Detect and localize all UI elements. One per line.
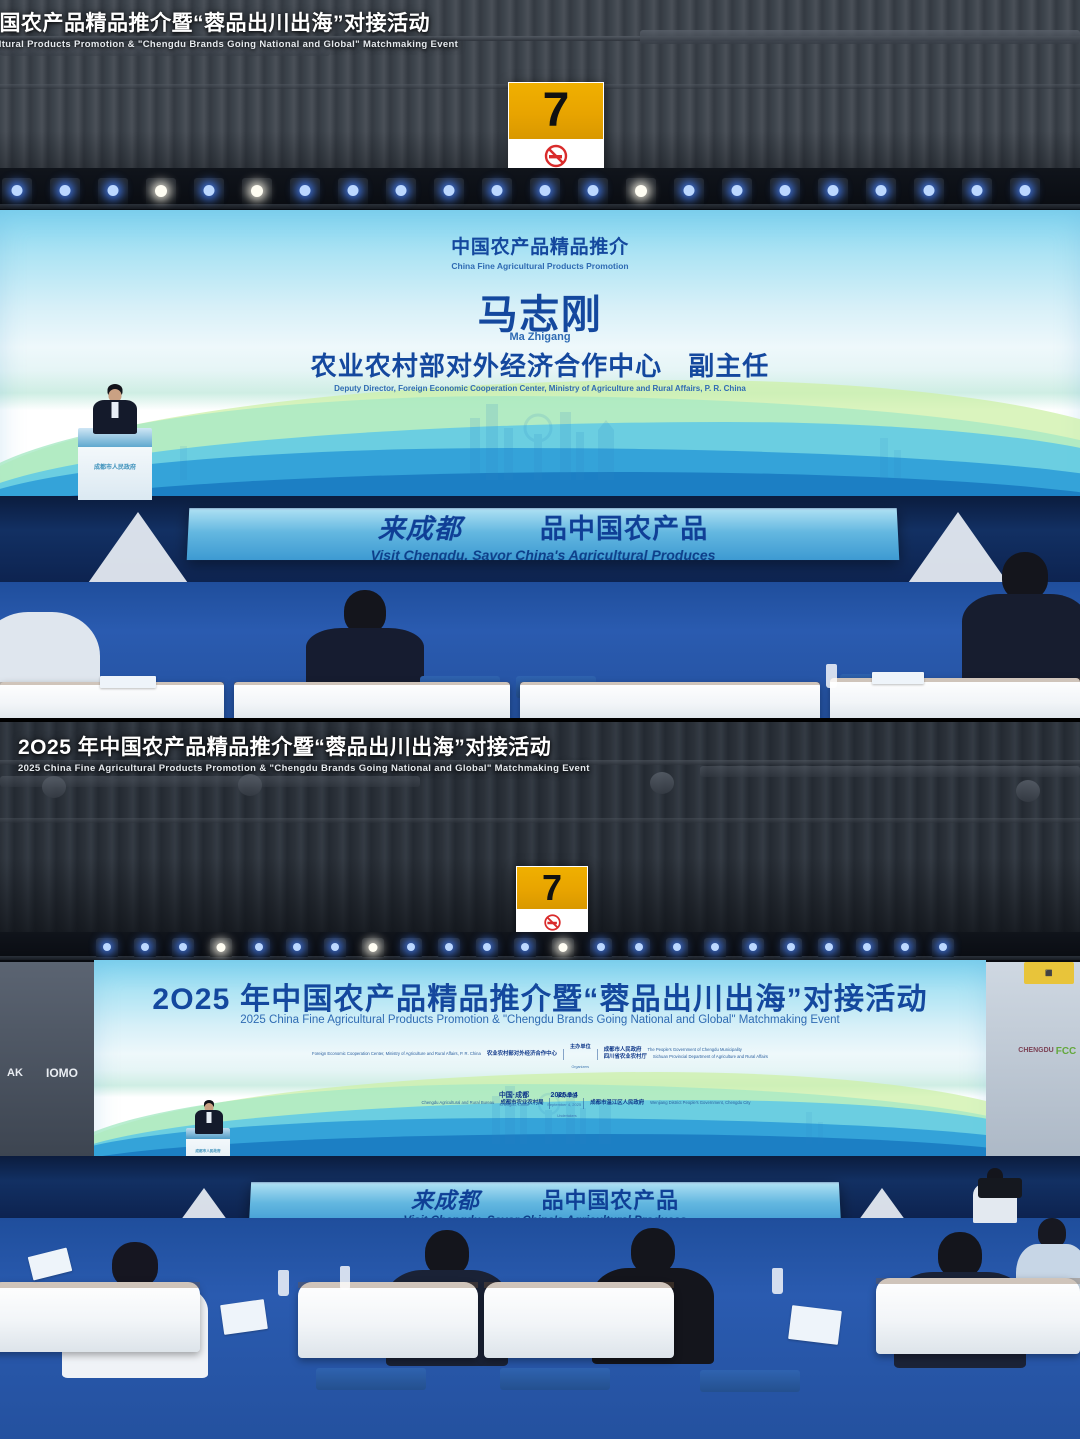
organizer-role: 主办单位 Organizers [570, 1034, 591, 1074]
sponsor-logo-right-1: CHENGDU [1016, 1044, 1056, 1056]
sponsor-logo-right-2: FCC [1052, 1044, 1080, 1058]
water-bottle [278, 1270, 289, 1296]
speaker-shirt [112, 402, 119, 418]
stage-light [962, 178, 992, 204]
attendee-head [1002, 552, 1048, 600]
video-camera [978, 1178, 1022, 1198]
stage-light [722, 178, 752, 204]
dateline-place-zh: 中国·成都 [499, 1092, 529, 1099]
speaker-shirt [207, 1112, 212, 1123]
stage-light [894, 938, 916, 957]
stage-light [628, 938, 650, 957]
truss-bar [0, 204, 1080, 209]
banner-zh-left: 来成都 [411, 1183, 480, 1215]
podium-top: 成都市人民政府 [78, 428, 152, 500]
stage-light [932, 938, 954, 957]
lighting-truss-top [0, 168, 1080, 212]
stage-light [1010, 178, 1040, 204]
stage-light [400, 938, 422, 957]
podium-body: 成都市人民政府 [78, 447, 152, 500]
led-speaker-title-en: Deputy Director, Foreign Economic Cooper… [0, 378, 1080, 396]
stage-light [386, 178, 416, 204]
stage-light [96, 938, 118, 957]
stage-light [324, 938, 346, 957]
stage-light [248, 938, 270, 957]
stage-light [242, 178, 272, 204]
stage-light [530, 178, 560, 204]
stage-light [476, 938, 498, 957]
banner-en: Visit Chengdu, Savor China's Agricultura… [370, 547, 715, 560]
led-speaker-name-en: Ma Zhigang [0, 327, 1080, 345]
led-organizer-block: Foreign Economic Cooperation Center, Min… [94, 1034, 986, 1123]
undertaker-role-en: Undertakers [557, 1114, 577, 1118]
audience-table [520, 682, 820, 722]
stage-light [742, 938, 764, 957]
dateline-date-zh: 2025.9.4 [551, 1092, 578, 1099]
led-screen-bottom: 2O25 年中国农产品精品推介暨“蓉品出川出海”对接活动 2025 China … [94, 960, 986, 1156]
hall-number-sign: 7 [508, 82, 604, 174]
speaker-at-podium-top [86, 384, 144, 432]
attendee-body [962, 594, 1080, 686]
audience-table [484, 1282, 674, 1358]
photo-panel-bottom: 7 AK [0, 722, 1080, 1439]
sponsor-logo-left-1: AK [0, 1066, 32, 1080]
exit-sign: ⬛ [1024, 962, 1074, 984]
banner-zh-right: 品中国农产品 [540, 508, 709, 546]
dateline-date-en: September 4, 2025 [547, 1102, 581, 1107]
dateline-date: 2025.9.4 September 4, 2025 [547, 1084, 581, 1107]
attendee [300, 590, 430, 690]
stage-light [438, 938, 460, 957]
ceiling-spotlight [238, 774, 262, 796]
hall-number-sign: 7 [516, 866, 588, 936]
side-wall-right [986, 962, 1080, 1172]
hall-number: 7 [517, 867, 587, 909]
organizer-name-en: Sichuan Provincial Department of Agricul… [653, 1054, 768, 1059]
chair [700, 1370, 800, 1392]
ceiling-spotlight [1016, 780, 1040, 802]
stage-light [434, 178, 464, 204]
divider [563, 1049, 564, 1060]
led-eyebrow-en: China Fine Agricultural Products Promoti… [0, 256, 1080, 274]
banner-zh-right: 品中国农产品 [542, 1183, 680, 1215]
stage-light [134, 938, 156, 957]
stage-light [818, 938, 840, 957]
stage-light [674, 178, 704, 204]
chair [500, 1368, 610, 1390]
side-wall-left [0, 962, 98, 1162]
stage-light [98, 178, 128, 204]
lighting-truss-bottom [0, 932, 1080, 962]
chair [316, 1368, 426, 1390]
ceiling-duct [700, 766, 1080, 777]
stage-light [818, 178, 848, 204]
handout-paper [220, 1299, 268, 1335]
organizer-role-en: Organizers [572, 1065, 590, 1069]
organizer-name-zh: 成都市人民政府 [604, 1047, 642, 1054]
stage-light [172, 938, 194, 957]
attendee [960, 552, 1080, 682]
led-screen-top: 中国农产品精品推介 China Fine Agricultural Produc… [0, 210, 1080, 496]
water-bottle [826, 664, 837, 688]
organizer-name-line: 四川省农业农村厅 Sichuan Provincial Department o… [604, 1054, 768, 1061]
stage-light [626, 178, 656, 204]
organizer-name-line: 成都市人民政府 The People's Government of Cheng… [604, 1047, 768, 1054]
audience-table [830, 678, 1080, 722]
stage-light [286, 938, 308, 957]
led-main-title-en: 2025 China Fine Agricultural Products Pr… [94, 1010, 986, 1028]
audience-table [0, 1282, 200, 1352]
ceiling-beam [0, 818, 1080, 823]
water-bottle [340, 1266, 350, 1290]
led-dateline: 中国·成都 Chengdu, China 2025.9.4 September … [94, 1084, 986, 1107]
audience-table [0, 682, 224, 722]
photo-panel-top: 7 [0, 0, 1080, 722]
organizer-names: 成都市人民政府 The People's Government of Cheng… [604, 1047, 768, 1061]
stage-light [780, 938, 802, 957]
handout-paper [872, 672, 924, 684]
audience-table [298, 1282, 478, 1358]
stage-light [770, 178, 800, 204]
stage-light [290, 178, 320, 204]
stage-light [194, 178, 224, 204]
divider [597, 1049, 598, 1060]
ceiling-spotlight [650, 772, 674, 794]
stage-light [2, 178, 32, 204]
stage-light [914, 178, 944, 204]
hall-number: 7 [509, 83, 603, 139]
organizer-left-zh: 农业农村部对外经济合作中心 [487, 1051, 557, 1058]
stage-light [552, 938, 574, 957]
stage-light [210, 938, 232, 957]
dateline-place: 中国·成都 Chengdu, China [499, 1084, 529, 1107]
dateline-place-en: Chengdu, China [499, 1102, 529, 1107]
stage-light [362, 938, 384, 957]
stage-light [146, 178, 176, 204]
stage-light [856, 938, 878, 957]
led-eyebrow-zh: 中国农产品精品推介 [0, 232, 1080, 259]
stage-light [514, 938, 536, 957]
organizer-name-en: The People's Government of Chengdu Munic… [647, 1047, 741, 1052]
stage-light [866, 178, 896, 204]
ceiling-duct [0, 46, 330, 56]
stage-light [704, 938, 726, 957]
stage-banner-top: 来成都 品中国农产品 Visit Chengdu, Savor China's … [187, 508, 900, 560]
audience-table [876, 1278, 1080, 1354]
audience-table [234, 682, 510, 722]
speaker-at-podium-bottom [192, 1100, 226, 1132]
organizer-left-en: Foreign Economic Cooperation Center, Min… [312, 1051, 481, 1056]
stage-light [50, 178, 80, 204]
podium-emblem: 成都市人民政府 [94, 465, 136, 471]
stage-decor-triangle [86, 512, 190, 586]
ceiling-spotlight [42, 776, 66, 798]
stage-light [338, 178, 368, 204]
stage-light [482, 178, 512, 204]
sponsor-logo-left-2: IOMO [36, 1066, 88, 1080]
organizer-name-zh: 四川省农业农村厅 [604, 1054, 647, 1061]
banner-zh-left: 来成都 [377, 508, 462, 546]
organizer-role-zh: 主办单位 [570, 1044, 591, 1050]
stage-light [578, 178, 608, 204]
stage-light [590, 938, 612, 957]
ceiling-beam [0, 760, 1080, 765]
podium-emblem: 成都市人民政府 [195, 1151, 220, 1155]
organizer-row: Foreign Economic Cooperation Center, Min… [94, 1034, 986, 1074]
handout-paper [100, 676, 156, 688]
handout-paper [788, 1305, 842, 1345]
ceiling-duct [640, 30, 1080, 44]
stage-light [666, 938, 688, 957]
water-bottle [772, 1268, 783, 1294]
